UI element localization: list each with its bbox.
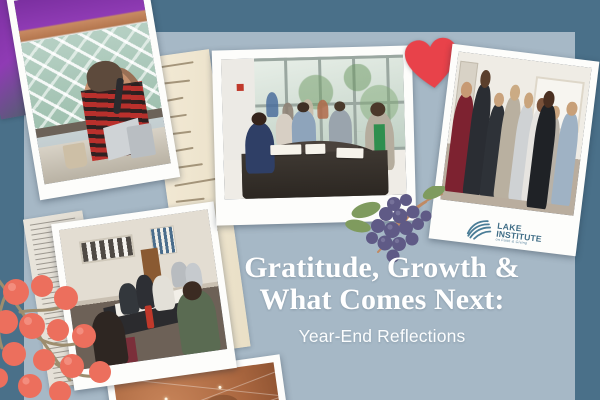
table-place-card bbox=[271, 144, 302, 155]
photo-round-table-meeting bbox=[221, 55, 407, 200]
table-place-card bbox=[305, 144, 325, 154]
red-berry-branch-icon bbox=[0, 268, 138, 400]
headline-line-1: Gratitude, Growth & bbox=[196, 252, 568, 284]
headline-subtitle: Year-End Reflections bbox=[196, 326, 568, 347]
photo-speaker-with-microphone bbox=[14, 0, 171, 184]
headline-block: Gratitude, Growth & What Comes Next: Yea… bbox=[196, 252, 568, 347]
collage-graphic: LAKE INSTITUTE on Faith & Giving bbox=[0, 0, 600, 400]
headline-line-2: What Comes Next: bbox=[196, 284, 568, 316]
photo-group-portrait bbox=[440, 52, 591, 216]
table-place-card bbox=[336, 148, 364, 159]
arc-waves-icon bbox=[464, 217, 492, 242]
